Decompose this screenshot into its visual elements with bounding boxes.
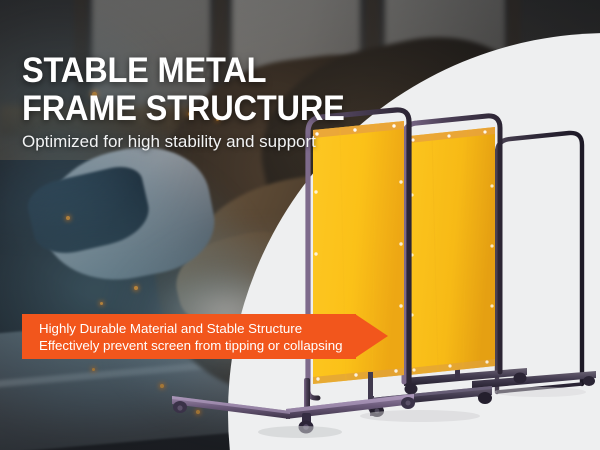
frame-base-front bbox=[100, 378, 415, 434]
product-marketing-banner: STABLE METAL FRAME STRUCTURE Optimized f… bbox=[0, 0, 600, 450]
page-title: STABLE METAL FRAME STRUCTURE bbox=[22, 52, 394, 128]
arrow-right-icon bbox=[355, 314, 388, 358]
subtitle: Optimized for high stability and support bbox=[22, 131, 352, 153]
feature-callout-banner: Highly Durable Material and Stable Struc… bbox=[22, 314, 388, 359]
callout-text: Highly Durable Material and Stable Struc… bbox=[39, 320, 355, 354]
welding-screen-panel-right bbox=[404, 116, 500, 382]
